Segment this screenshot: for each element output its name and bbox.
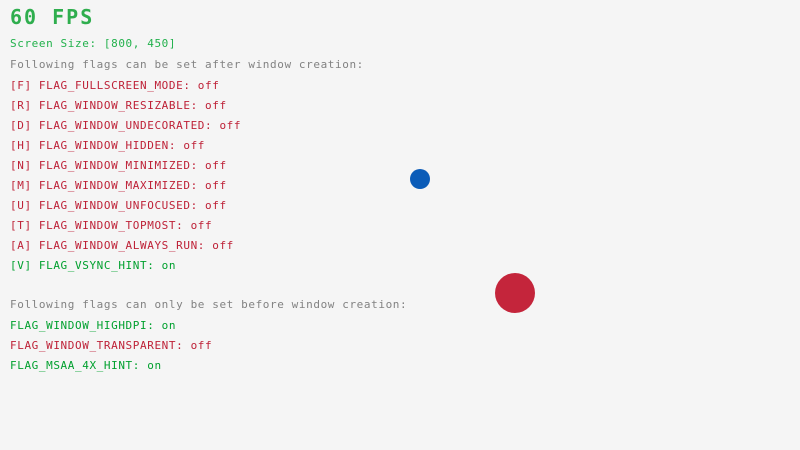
flag-row[interactable]: [F] FLAG_FULLSCREEN_MODE: off: [10, 80, 219, 91]
flag-row[interactable]: [R] FLAG_WINDOW_RESIZABLE: off: [10, 100, 227, 111]
flag-row[interactable]: [A] FLAG_WINDOW_ALWAYS_RUN: off: [10, 240, 234, 251]
flag-row[interactable]: FLAG_WINDOW_HIGHDPI: on: [10, 320, 176, 331]
fps-counter: 60 FPS: [10, 7, 94, 27]
small-blue-ball-icon: [410, 169, 430, 189]
section-header-after-creation: Following flags can be set after window …: [10, 59, 364, 70]
flag-row[interactable]: [T] FLAG_WINDOW_TOPMOST: off: [10, 220, 212, 231]
flag-row[interactable]: [V] FLAG_VSYNC_HINT: on: [10, 260, 176, 271]
flag-row[interactable]: [H] FLAG_WINDOW_HIDDEN: off: [10, 140, 205, 151]
flag-row[interactable]: FLAG_WINDOW_TRANSPARENT: off: [10, 340, 212, 351]
flag-row[interactable]: [M] FLAG_WINDOW_MAXIMIZED: off: [10, 180, 227, 191]
section-header-before-creation: Following flags can only be set before w…: [10, 299, 407, 310]
flag-row[interactable]: FLAG_MSAA_4X_HINT: on: [10, 360, 162, 371]
large-red-ball-icon: [495, 273, 535, 313]
app-canvas: 60 FPS Screen Size: [800, 450] Following…: [0, 0, 800, 450]
flag-row[interactable]: [D] FLAG_WINDOW_UNDECORATED: off: [10, 120, 241, 131]
screen-size-label: Screen Size: [800, 450]: [10, 38, 176, 49]
flag-row[interactable]: [N] FLAG_WINDOW_MINIMIZED: off: [10, 160, 227, 171]
flag-row[interactable]: [U] FLAG_WINDOW_UNFOCUSED: off: [10, 200, 227, 211]
